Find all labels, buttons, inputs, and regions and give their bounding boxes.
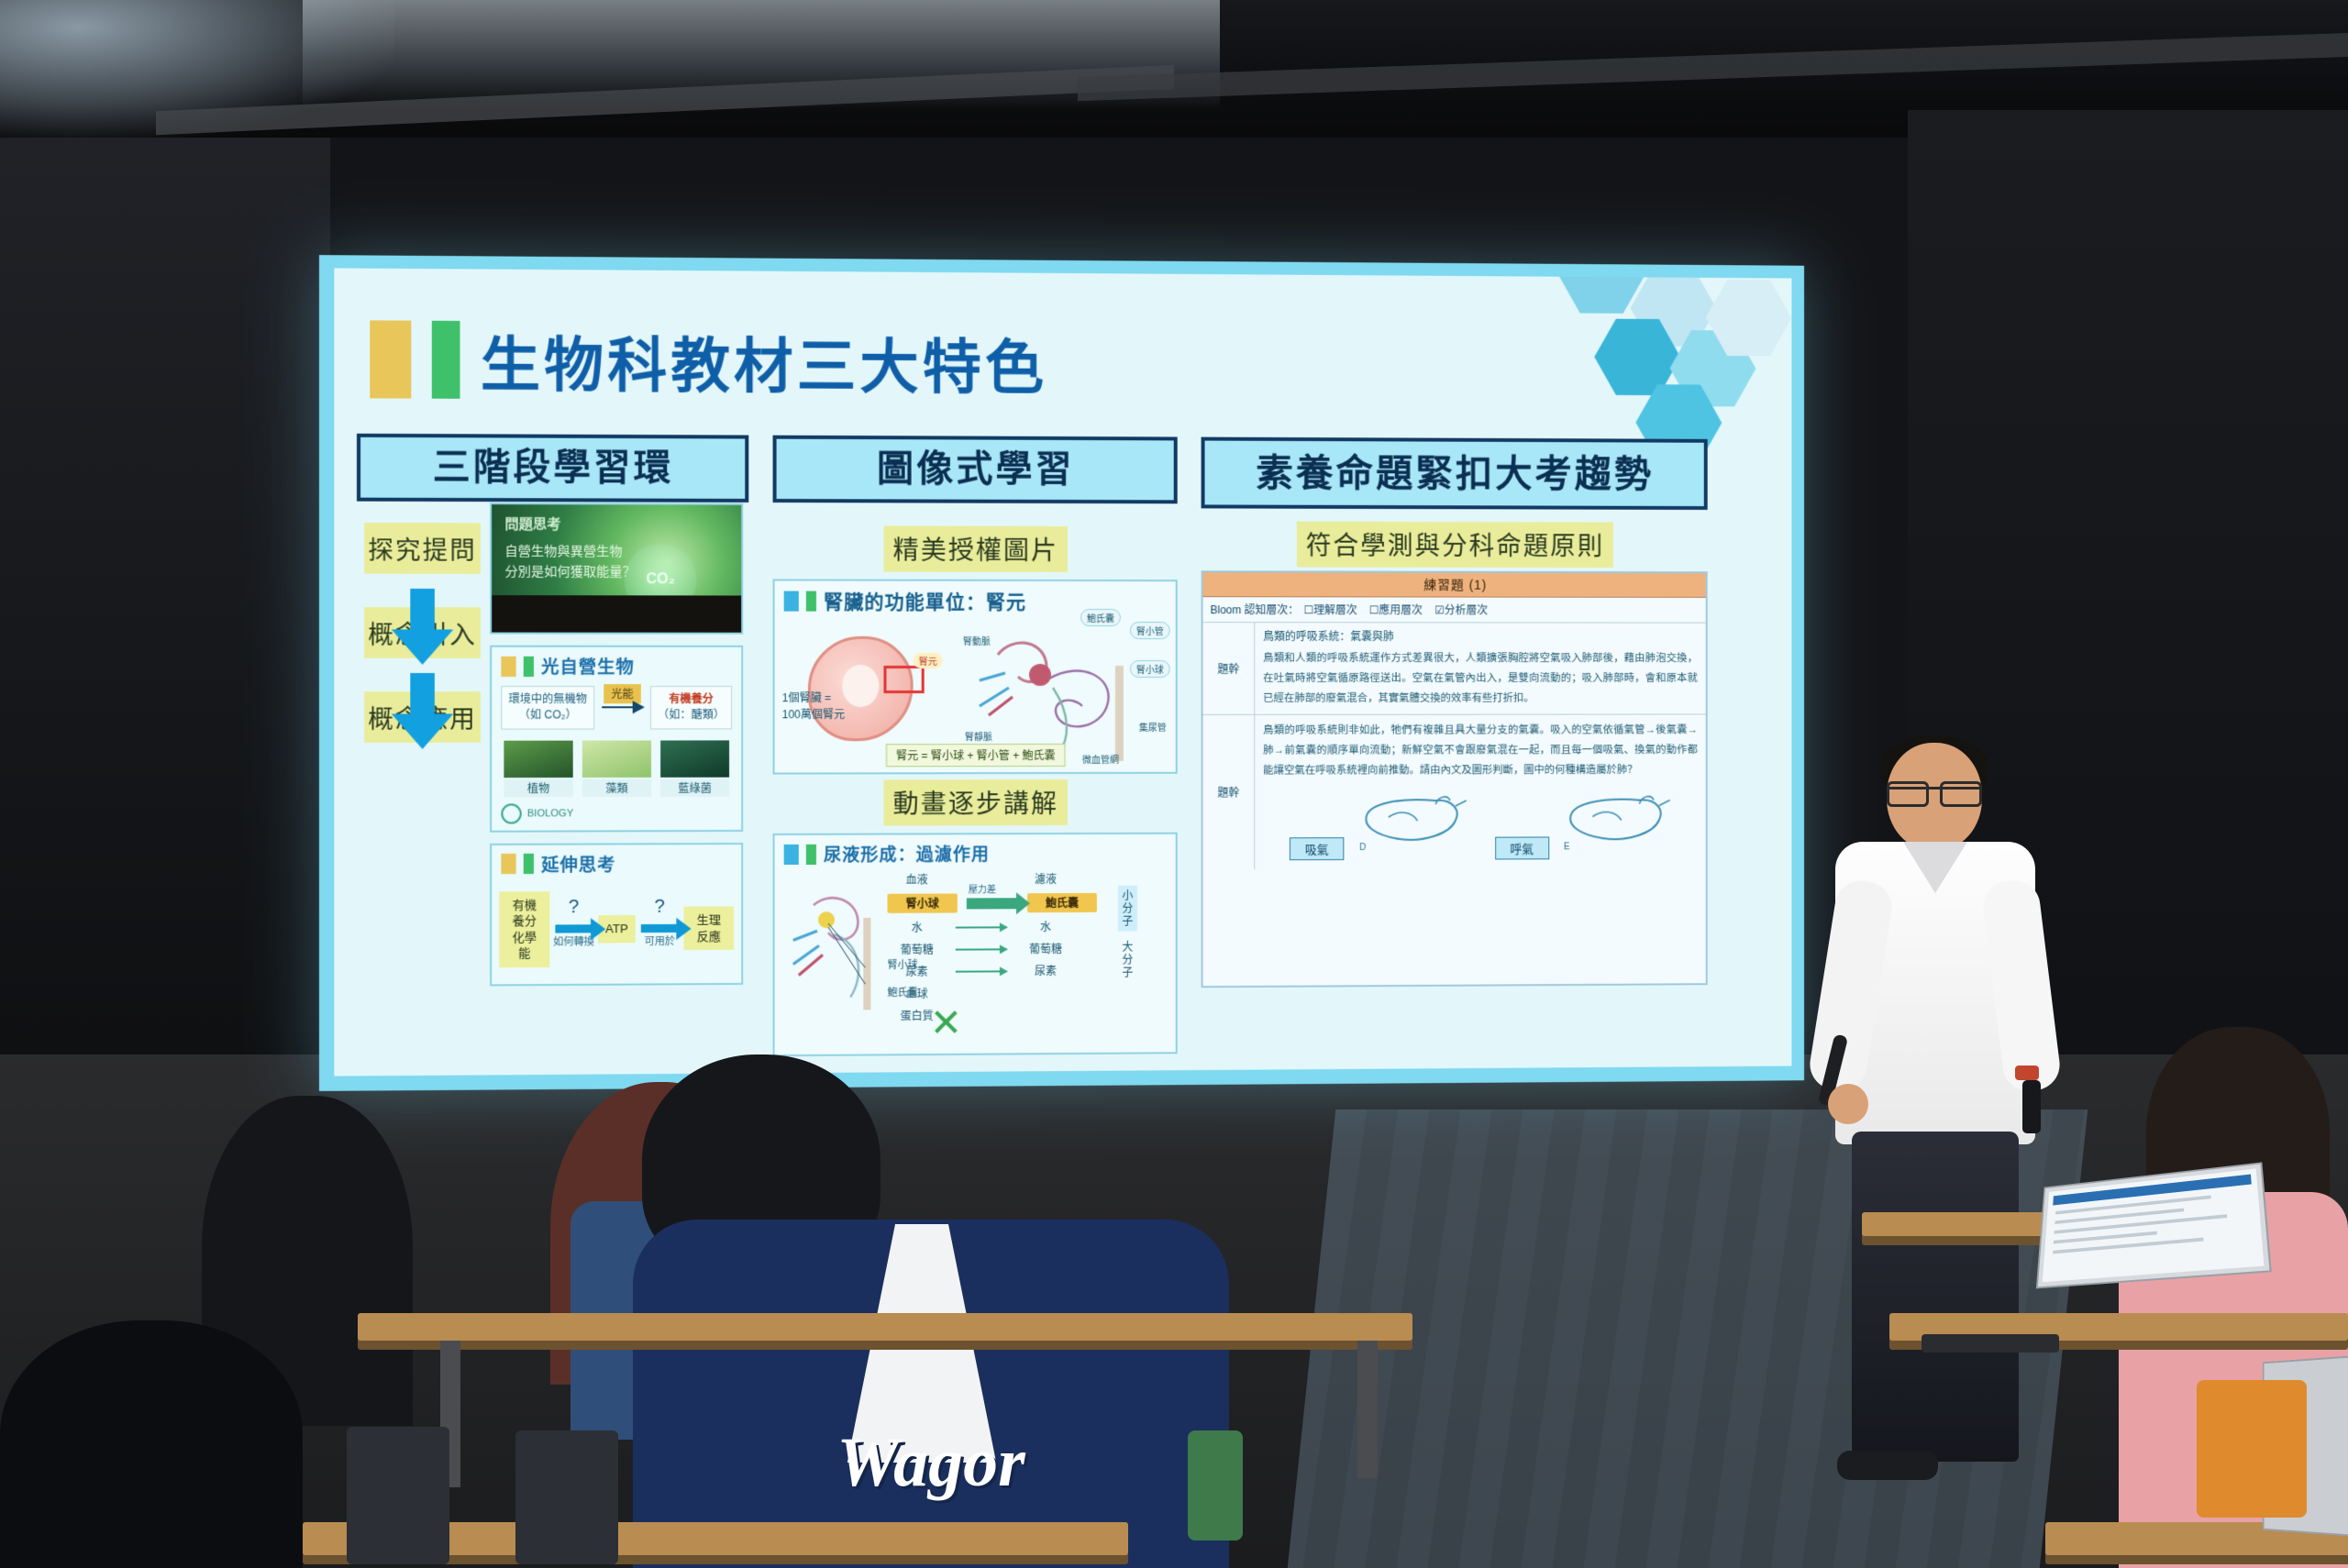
caption-animation-row: 動畫逐步講解 [773,779,1178,826]
audience-member-3 [0,1320,303,1568]
caption-exam-principle-row: 符合學測與分科命題原則 [1202,521,1708,568]
atp-caption-2: 可用於 [645,933,675,948]
organism-plant: 植物 [504,740,572,797]
left-wall [0,138,330,1100]
bloom-option-2-label: 應用層次 [1379,603,1423,616]
photo-eyebrow: 問題思考 [504,513,560,533]
stage-label-1: 探究提問 [364,523,481,574]
worksheet-section-1: 題幹 鳥類的呼吸系統：氣囊與肺 鳥類和人類的呼吸系統運作方式差異很大，人類擴張胸… [1203,623,1706,714]
pressure-arrow: 壓力差 [967,898,1018,909]
laptop-display [2043,1168,2265,1282]
cyanobacteria-photo [660,740,729,777]
filtration-head-blood: 血液 [888,871,947,887]
caption-licensed-images-row: 精美授權圖片 [773,525,1178,572]
atp-start: 有機養分 化學能 [499,891,549,967]
handbag [2197,1380,2307,1518]
organism-label-2: 藻類 [582,779,651,797]
tile-green-icon [806,591,816,612]
label-glomerulus: 腎小球 [1130,660,1170,678]
label-renal-tubule: 腎小管 [1130,622,1170,639]
worksheet-document: 練習題 (1) Bloom 認知層次： ☐理解層次 ☐應用層次 ☑分析層次 題幹 [1202,570,1708,988]
row-urea-left: 尿素 [888,964,947,979]
bird-marker-d: D [1359,844,1366,854]
lecture-room: 生物科教材三大特色 三階段學習環 探究提問 概念引入 概念應用 [0,0,2348,1565]
filtration-card-title: 尿液形成：過濾作用 [824,841,990,867]
card-urine-filtration: 尿液形成：過濾作用 腎小球 [773,833,1178,1056]
worksheet-side-label-1: 題幹 [1203,623,1256,714]
card2-header: 光自營生物 [492,647,741,680]
column3-header: 素養命題緊扣大考趨勢 [1202,437,1708,510]
filtration-row-water: 水 水 [888,919,1097,935]
remote-control [1922,1334,2059,1353]
worksheet-paragraph-1: 鳥類和人類的呼吸系統運作方式差異很大，人類擴張胸腔將空氣吸入肺部後，藉由肺泡交換… [1263,648,1698,709]
photo-question-line1: 自營生物與異營生物 [504,542,622,561]
pass-arrow-2 [956,948,1007,950]
sample-organisms: 植物 藻類 藍綠菌 [492,734,741,801]
atp-arrow-2: ? 可用於 [641,924,679,933]
kidney-note-line2: 100萬個腎元 [782,708,846,721]
bloom-option-2: ☐應用層次 [1369,603,1423,616]
worksheet-body-2: 鳥類的呼吸系統則非如此，牠們有複雜且具大量分支的氣囊。吸入的空氣依循氣管→後氣囊… [1255,715,1706,870]
label-renal-vein: 腎靜脈 [959,728,998,744]
label-collecting-duct: 集尿管 [1134,719,1172,734]
wristband [2015,1066,2039,1080]
worksheet-heading: 鳥類的呼吸系統：氣囊與肺 [1263,628,1698,644]
filtration-from: 腎小球 [888,893,958,912]
eq-right-line2: （如：醣類） [658,709,725,722]
presenter-clicker [2022,1080,2041,1133]
label-renal-artery: 腎動脈 [958,633,996,648]
card-photoautotroph: 光自營生物 環境中的無機物 （如 CO₂） 光能 [490,646,743,833]
tag-large-molecule: 大分子 [1118,937,1137,983]
column1-cards: 問題思考 自營生物與異營生物 分別是如何獲取能量？ CO₂ [490,502,743,986]
nephron-equation: 腎元 = 腎小球 + 腎小管 + 鮑氏囊 [886,744,1066,767]
label-capillary-network: 微血管網 [1077,751,1124,767]
atp-end: 生理反應 [684,907,734,951]
pass-arrow-3 [956,970,1007,972]
atp-start-line2: 化學能 [512,930,536,960]
worksheet-title: 練習題 (1) [1203,572,1706,598]
bird-tag-exhale: 呼氣 [1495,837,1549,860]
kidney-note-line1: 1個腎臟 = [782,691,831,704]
tile-green-icon [524,854,534,874]
worksheet-body-1: 鳥類的呼吸系統：氣囊與肺 鳥類和人類的呼吸系統運作方式差異很大，人類擴張胸腔將空… [1255,623,1706,714]
tile-green-icon [524,656,534,676]
worksheet-paragraph-2: 鳥類的呼吸系統則非如此，牠們有複雜且具大量分支的氣囊。吸入的空氣依循氣管→後氣囊… [1263,721,1698,781]
organism-cyanobacteria: 藍綠菌 [660,740,729,797]
filtration-row-protein: 蛋白質 [888,1007,1097,1023]
atp-caption-1: 如何轉換 [553,934,594,949]
glomerulus-illustration [786,887,882,1016]
soil-band [492,595,741,633]
equation-left: 環境中的無機物 （如 CO₂） [501,686,594,729]
organism-label-1: 植物 [504,779,572,797]
filtration-row-glucose: 葡萄糖 葡萄糖 [888,941,1097,957]
plant-photo [504,740,572,777]
slide-title: 生物科教材三大特色 [481,317,1047,405]
row-glucose-right: 葡萄糖 [1016,941,1075,956]
bloom-label: Bloom 認知層次： [1211,603,1300,616]
worksheet-wrap: 練習題 (1) Bloom 認知層次： ☐理解層次 ☐應用層次 ☑分析層次 題幹 [1202,570,1708,988]
presenter-trousers [1852,1132,2019,1462]
column-competency-assessment: 素養命題緊扣大考趨勢 符合學測與分科命題原則 練習題 (1) Bloom 認知層… [1202,437,1708,1063]
atp-question-2: ? [655,897,665,918]
tile-blue-icon [784,844,799,864]
drink-cup [1188,1430,1243,1540]
organism-algae: 藻類 [582,740,651,797]
row-water-left: 水 [888,920,947,935]
tile-yellow-icon [501,854,515,874]
slide-columns: 三階段學習環 探究提問 概念引入 概念應用 問題思考 自營生物與異營生物 [357,434,1778,1069]
eq-right-line1: 有機養分 [669,692,714,705]
filtration-row-urea: 尿素 尿素 [888,963,1097,979]
tile-blue-icon [784,591,799,612]
column2-body: 精美授權圖片 腎臟的功能單位：腎元 1個腎臟 = [773,520,1178,1056]
label-bowmans-capsule: 鮑氏囊 [1080,609,1121,626]
bird-inhale: 吸氣 D [1290,787,1467,865]
tag-small-molecule: 小分子 [1118,886,1137,932]
label-nephron-zoom: 腎元 [914,653,943,668]
equation-arrow-label: 光能 [604,684,641,703]
row-water-right: 水 [1016,919,1075,934]
logo-circle-icon [501,803,521,823]
atp-flow: 有機養分 化學能 ? 如何轉換 ATP ? 可用於 [492,878,741,984]
bird-marker-e: E [1564,843,1570,853]
bird-tag-inhale: 吸氣 [1290,838,1344,861]
tile-green-icon [806,844,816,864]
nature-photo: 問題思考 自營生物與異營生物 分別是如何獲取能量？ CO₂ [492,504,741,633]
filtration-table: 血液 濾液 腎小球 壓力差 鮑氏囊 [888,871,1097,1030]
card-kidney-nephron: 腎臟的功能單位：腎元 1個腎臟 = 100萬個腎元 [773,579,1178,774]
biology-logo: BIOLOGY [492,801,741,831]
worksheet-side-label-2: 題幹 [1203,715,1256,870]
learning-cycle-flow: 探究提問 概念引入 概念應用 [362,523,482,743]
bird-diagram-exhale: E [1553,786,1671,854]
slide-title-row: 生物科教材三大特色 [370,316,1047,405]
logo-text: BIOLOGY [527,808,573,819]
caption-exam-principle: 符合學測與分科命題原則 [1297,522,1613,568]
filtration-card-header: 尿液形成：過濾作用 [775,834,1176,868]
chair-1 [347,1427,449,1564]
presenter [1821,743,2050,1476]
bird-exhale: 呼氣 E [1495,786,1672,864]
chair-2 [515,1430,618,1564]
card2-title: 光自營生物 [541,654,635,679]
bloom-option-1-label: 理解層次 [1313,603,1357,616]
glasses-icon [1888,787,1980,810]
bloom-option-3: ☑分析層次 [1434,603,1488,616]
molecule-size-tags: 小分子 大分子 [1118,886,1168,988]
column-learning-cycle: 三階段學習環 探究提問 概念引入 概念應用 問題思考 自營生物與異營生物 [357,434,748,1069]
organism-label-3: 藍綠菌 [660,778,729,796]
card3-title: 延伸思考 [541,851,615,877]
ceiling-beam-right [1078,33,2348,102]
blocked-x-icon: ✕ [930,1004,962,1043]
bloom-option-3-label: 分析層次 [1445,603,1488,616]
filtration-row-bloodcell: 血球 [888,985,1097,1001]
bird-figures: 吸氣 D [1263,786,1698,865]
card3-header: 延伸思考 [492,845,741,878]
desk-leg-2 [1357,1341,1378,1478]
photosynthesis-equation: 環境中的無機物 （如 CO₂） 光能 有機養分 （如：醣類） [492,680,741,734]
column-visual-learning: 圖像式學習 精美授權圖片 腎臟的功能單位：腎元 [773,436,1178,1066]
eq-left-line2: （如 CO₂） [519,709,577,722]
filtration-main-row: 腎小球 壓力差 鮑氏囊 [888,893,1097,913]
atp-arrow-1: ? 如何轉換 [555,925,593,933]
projection-screen: 生物科教材三大特色 三階段學習環 探究提問 概念引入 概念應用 [319,255,1804,1091]
desk-front-left [358,1313,1412,1341]
filtration-head-filtrate: 濾液 [1016,871,1075,887]
row-urea-right: 尿素 [1016,963,1075,978]
jacket-text: Wagor [706,1412,1156,1513]
pressure-arrow-label: 壓力差 [969,881,996,895]
equation-arrow: 光能 [602,707,643,709]
kidney-card-title: 腎臟的功能單位：腎元 [824,588,1026,615]
photo-question-line2: 分別是如何獲取能量？ [504,562,635,581]
row-bloodcell: 血球 [888,986,947,1001]
tile-yellow-icon [501,656,515,676]
atp-start-line1: 有機養分 [512,898,536,928]
hexagon-decoration [1450,268,1791,428]
bloom-option-1: ☐理解層次 [1303,603,1357,616]
bloom-row: Bloom 認知層次： ☐理解層次 ☐應用層次 ☑分析層次 [1203,597,1706,623]
filtration-to: 鮑氏囊 [1027,893,1097,912]
worksheet-section-2: 題幹 鳥類的呼吸系統則非如此，牠們有複雜且具大量分支的氣囊。吸入的空氣依循氣管→… [1203,714,1706,870]
equation-right: 有機養分 （如：醣類） [650,686,732,729]
column2-header: 圖像式學習 [773,436,1178,503]
atp-question-1: ? [569,897,579,918]
kidney-note: 1個腎臟 = 100萬個腎元 [782,690,846,723]
title-tile-yellow [370,320,411,398]
row-glucose-left: 葡萄糖 [888,942,947,957]
presenter-hand [1828,1084,1868,1124]
column1-header: 三階段學習環 [357,434,748,502]
caption-animation: 動畫逐步講解 [883,779,1068,826]
algae-photo [582,740,651,777]
bird-diagram-inhale: D [1348,787,1467,855]
pass-arrow-1 [956,926,1007,928]
eq-left-line1: 環境中的無機物 [508,692,586,705]
caption-licensed-images: 精美授權圖片 [883,525,1068,572]
zoom-region-box [883,666,924,693]
card-inquiry-photo: 問題思考 自營生物與異營生物 分別是如何獲取能量？ CO₂ [490,502,743,635]
presenter-shoe [1837,1451,1938,1480]
card-extension-thinking: 延伸思考 有機養分 化學能 ? 如何轉換 [490,843,743,987]
presentation-slide: 生物科教材三大特色 三階段學習環 探究提問 概念引入 概念應用 [334,268,1791,1076]
title-tile-green [432,321,460,399]
